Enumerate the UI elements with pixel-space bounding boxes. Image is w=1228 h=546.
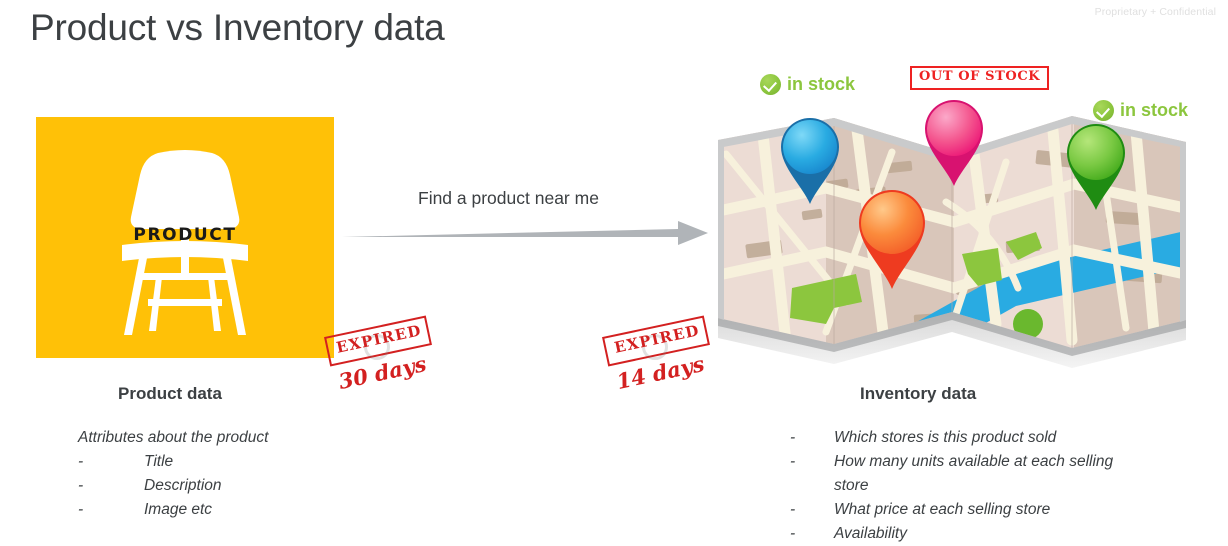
- list-item: - Availability: [790, 522, 1150, 546]
- bullet-text: What price at each selling store: [834, 498, 1150, 522]
- status-label-text: in stock: [787, 74, 855, 95]
- page-title: Product vs Inventory data: [30, 8, 445, 49]
- bullet-marker: -: [790, 426, 834, 450]
- expired-stamp-30-days: EXPIRED 30 days: [324, 312, 444, 398]
- bullet-marker: -: [78, 450, 144, 474]
- product-image-tile: PRODUCT: [36, 117, 334, 358]
- product-data-caption: Product data: [118, 384, 222, 404]
- list-item: - Image etc: [78, 498, 418, 522]
- status-badge-in-stock-right: in stock: [1093, 100, 1188, 121]
- inventory-bullet-list: - Which stores is this product sold - Ho…: [790, 426, 1150, 546]
- status-badge-in-stock-left: in stock: [760, 74, 855, 95]
- status-label-text: in stock: [1120, 100, 1188, 121]
- list-item: - How many units available at each selli…: [790, 450, 1150, 498]
- bullet-text: Availability: [834, 522, 1150, 546]
- folded-map-illustration: [706, 92, 1198, 370]
- inventory-data-caption: Inventory data: [860, 384, 976, 404]
- status-badge-out-of-stock: OUT OF STOCK: [910, 66, 1049, 90]
- check-circle-icon: [1093, 100, 1114, 121]
- bullet-text: Description: [144, 474, 418, 498]
- flow-arrow-icon: [340, 215, 712, 251]
- check-circle-icon: [760, 74, 781, 95]
- list-item: - What price at each selling store: [790, 498, 1150, 522]
- arrow-label: Find a product near me: [418, 188, 599, 209]
- product-data-bullets: Attributes about the product - Title - D…: [78, 426, 418, 522]
- product-bullet-list: - Title - Description - Image etc: [78, 450, 418, 522]
- expired-stamp-14-days: EXPIRED 14 days: [602, 312, 722, 398]
- bullet-text: Title: [144, 450, 418, 474]
- bullet-marker: -: [78, 474, 144, 498]
- confidential-note: Proprietary + Confidential: [1095, 6, 1216, 18]
- list-item: - Title: [78, 450, 418, 474]
- list-item: - Which stores is this product sold: [790, 426, 1150, 450]
- bullet-marker: -: [790, 498, 834, 522]
- product-bullets-lead: Attributes about the product: [78, 426, 418, 450]
- chair-icon: [36, 117, 334, 358]
- bullet-text: Image etc: [144, 498, 418, 522]
- bullet-text: How many units available at each selling…: [834, 450, 1150, 498]
- bullet-marker: -: [790, 522, 834, 546]
- bullet-marker: -: [790, 450, 834, 474]
- bullet-text: Which stores is this product sold: [834, 426, 1150, 450]
- inventory-data-bullets: - Which stores is this product sold - Ho…: [790, 426, 1150, 546]
- list-item: - Description: [78, 474, 418, 498]
- bullet-marker: -: [78, 498, 144, 522]
